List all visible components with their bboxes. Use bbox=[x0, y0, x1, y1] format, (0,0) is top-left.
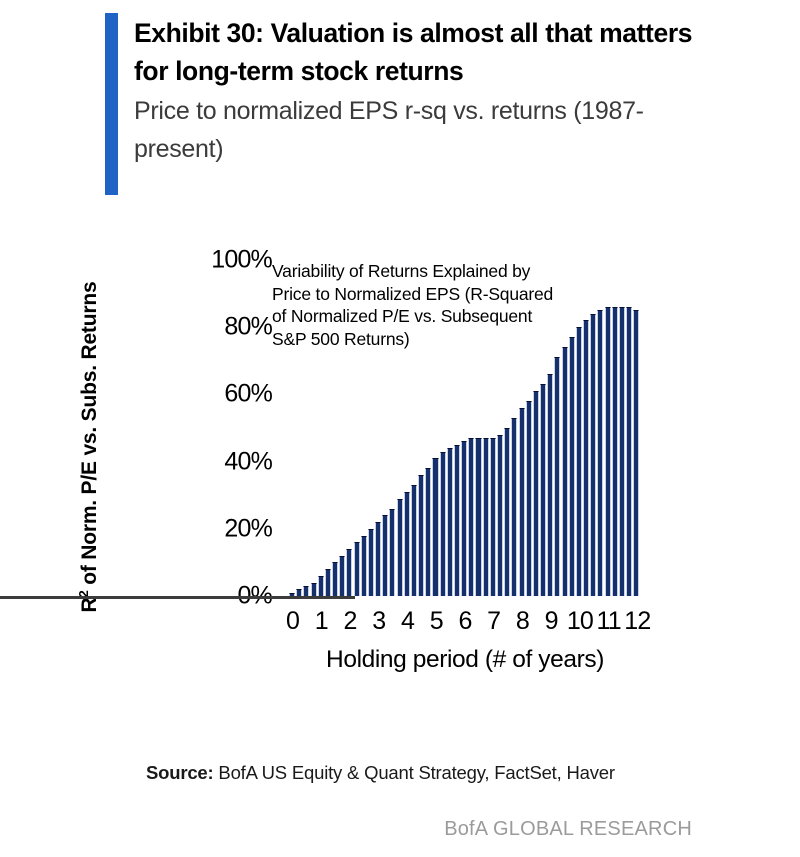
bar bbox=[612, 307, 618, 596]
bar bbox=[461, 441, 467, 596]
page-title: Exhibit 30: Valuation is almost all that… bbox=[134, 14, 694, 90]
bar bbox=[468, 438, 474, 596]
x-tick-label: 9 bbox=[545, 606, 558, 636]
bar bbox=[389, 509, 395, 596]
y-tick-label: 60% bbox=[224, 382, 272, 407]
bar bbox=[605, 307, 611, 596]
bar bbox=[526, 401, 532, 596]
y-axis-title: R2 of Norm. P/E vs. Subs. Returns bbox=[76, 272, 102, 622]
bar bbox=[554, 357, 560, 596]
x-tick-label: 7 bbox=[487, 606, 500, 636]
bar bbox=[418, 475, 424, 596]
y-tick-label: 80% bbox=[224, 315, 272, 340]
bar bbox=[540, 384, 546, 596]
bar bbox=[504, 428, 510, 596]
bar bbox=[325, 569, 331, 596]
bar bbox=[375, 522, 381, 596]
bar bbox=[519, 408, 525, 596]
y-tick-label: 100% bbox=[211, 248, 272, 273]
brand-line: BofA GLOBAL RESEARCH bbox=[444, 818, 692, 841]
x-tick-label: 10 bbox=[567, 606, 593, 636]
bar bbox=[619, 307, 625, 596]
bar bbox=[576, 327, 582, 596]
exhibit-header: Exhibit 30: Valuation is almost all that… bbox=[0, 0, 800, 210]
x-axis-title: Holding period (# of years) bbox=[200, 646, 730, 674]
bar bbox=[318, 576, 324, 596]
bar bbox=[425, 468, 431, 596]
x-tick-label: 6 bbox=[458, 606, 471, 636]
bar bbox=[404, 492, 410, 596]
bar bbox=[490, 438, 496, 596]
x-tick-label: 8 bbox=[516, 606, 529, 636]
bar bbox=[368, 529, 374, 596]
x-tick-label: 5 bbox=[430, 606, 443, 636]
x-axis-line bbox=[0, 596, 355, 599]
x-tick-label: 2 bbox=[343, 606, 356, 636]
bar-series bbox=[289, 265, 641, 596]
bar bbox=[361, 536, 367, 596]
plot-region bbox=[289, 265, 641, 596]
y-axis-title-prefix: R bbox=[78, 597, 101, 612]
bar bbox=[339, 556, 345, 596]
bar bbox=[311, 583, 317, 596]
bar bbox=[597, 310, 603, 596]
x-tick-label: 11 bbox=[596, 606, 620, 636]
bar bbox=[346, 549, 352, 596]
source-text: BofA US Equity & Quant Strategy, FactSet… bbox=[213, 762, 614, 783]
source-line: Source: BofA US Equity & Quant Strategy,… bbox=[146, 762, 615, 784]
bar bbox=[354, 542, 360, 596]
y-tick-label: 40% bbox=[224, 449, 272, 474]
bar bbox=[411, 485, 417, 596]
x-axis-tick-labels: 0123456789101112 bbox=[289, 606, 641, 638]
bar bbox=[447, 448, 453, 596]
bar bbox=[483, 438, 489, 596]
bar bbox=[562, 347, 568, 596]
bar bbox=[511, 418, 517, 596]
bar bbox=[583, 320, 589, 596]
bar bbox=[382, 515, 388, 596]
bar bbox=[569, 337, 575, 596]
y-tick-label: 20% bbox=[224, 516, 272, 541]
accent-bar bbox=[105, 13, 118, 195]
bar bbox=[303, 586, 309, 596]
source-label: Source: bbox=[146, 762, 213, 783]
bar bbox=[332, 562, 338, 596]
bar bbox=[440, 452, 446, 596]
bar bbox=[590, 314, 596, 596]
x-tick-label: 1 bbox=[315, 606, 328, 636]
bar bbox=[533, 391, 539, 596]
x-tick-label: 12 bbox=[624, 606, 650, 636]
title-block: Exhibit 30: Valuation is almost all that… bbox=[134, 14, 694, 168]
bar bbox=[454, 445, 460, 596]
bar bbox=[475, 438, 481, 596]
bar bbox=[397, 499, 403, 596]
bar bbox=[633, 310, 639, 596]
y-axis-title-rest: of Norm. P/E vs. Subs. Returns bbox=[78, 282, 101, 591]
bar bbox=[626, 307, 632, 596]
x-tick-label: 4 bbox=[401, 606, 414, 636]
y-axis-tick-labels: 0%20%40%60%80%100% bbox=[196, 260, 272, 596]
bar bbox=[296, 589, 302, 596]
chart-container: R2 of Norm. P/E vs. Subs. Returns 0%20%4… bbox=[0, 210, 800, 710]
bar bbox=[547, 374, 553, 596]
page-subtitle: Price to normalized EPS r-sq vs. returns… bbox=[134, 92, 694, 168]
x-tick-label: 0 bbox=[286, 606, 299, 636]
x-tick-label: 3 bbox=[372, 606, 385, 636]
bar bbox=[432, 458, 438, 596]
bar bbox=[497, 435, 503, 596]
